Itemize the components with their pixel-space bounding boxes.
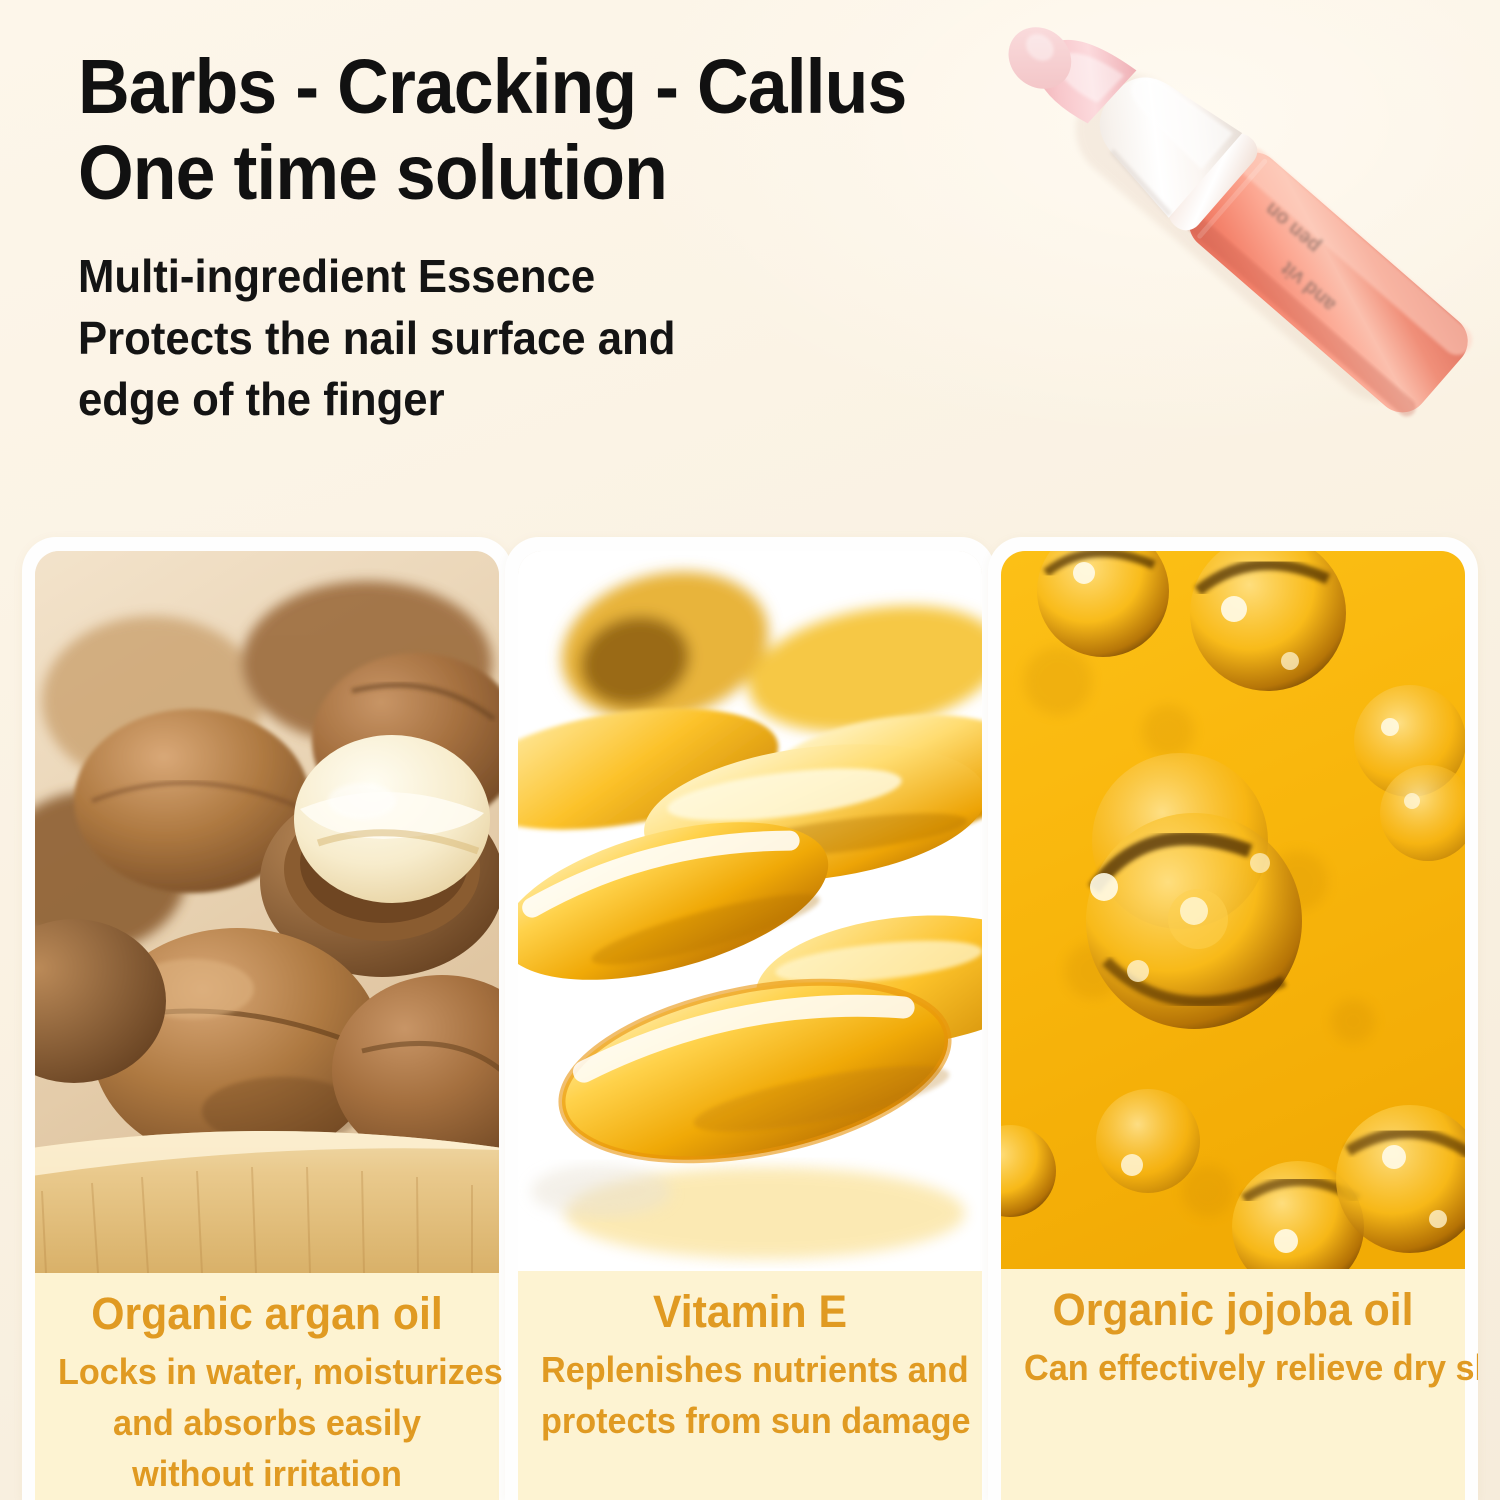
card-caption: Organic argan oil Locks in water, moistu… [35,1273,499,1500]
description-line: Locks in water, moisturizes [58,1346,476,1397]
ingredient-card-organic-jojoba-oil[interactable]: Organic jojoba oil Can effectively relie… [988,537,1478,1500]
description-line: protects from sun damage [541,1395,959,1446]
description-line: without irritation [58,1448,476,1499]
card-caption: Organic jojoba oil Can effectively relie… [1001,1269,1465,1500]
ingredient-description: Can effectively relieve dry skin [1013,1342,1453,1393]
description-line: Can effectively relieve dry skin [1024,1342,1442,1393]
cuticle-oil-pen-image: pen on and vit [860,0,1500,490]
ingredient-description: Replenishes nutrients and protects from … [530,1344,970,1446]
product-infographic: Barbs - Cracking - Callus One time solut… [0,0,1500,1500]
ingredient-title: Organic argan oil [58,1287,476,1340]
ingredient-cards-row: Organic argan oil Locks in water, moistu… [0,537,1500,1500]
wooden-bowl [35,1131,499,1273]
description-line: and absorbs easily [58,1397,476,1448]
ingredient-card-vitamin-e[interactable]: Vitamin E Replenishes nutrients and prot… [505,537,995,1500]
description-line: Replenishes nutrients and [541,1344,959,1395]
ingredient-title: Vitamin E [541,1285,959,1338]
macadamia-nuts-photo [35,551,499,1273]
ingredient-card-organic-argan-oil[interactable]: Organic argan oil Locks in water, moistu… [22,537,512,1500]
ingredient-description: Locks in water, moisturizes and absorbs … [47,1346,487,1499]
golden-oil-bubbles-photo [1001,551,1465,1269]
card-caption: Vitamin E Replenishes nutrients and prot… [518,1271,982,1500]
ingredient-title: Organic jojoba oil [1024,1283,1442,1336]
softgel-capsules-photo [518,551,982,1271]
